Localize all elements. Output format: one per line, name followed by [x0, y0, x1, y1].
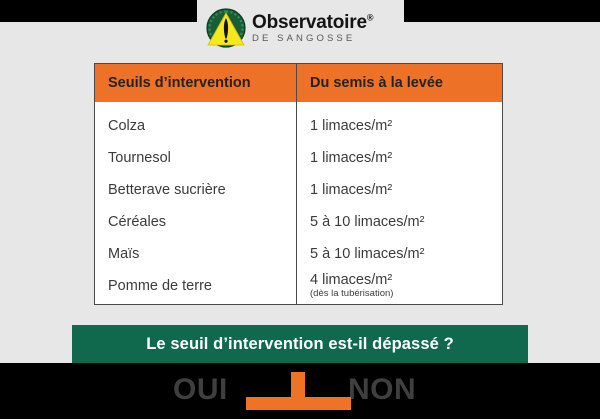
- table-row: 1 limaces/m²: [297, 110, 502, 142]
- brand-name: Observatoire®: [252, 13, 373, 32]
- crop-name: Céréales: [108, 214, 296, 230]
- table-row: 5 à 10 limaces/m²: [297, 206, 502, 238]
- threshold-value: 1 limaces/m²: [310, 182, 502, 198]
- threshold-note: (dès la tubérisation): [310, 289, 502, 299]
- table-row: Tournesol: [95, 142, 296, 174]
- table-row: Maïs: [95, 238, 296, 270]
- flowchart-connector-bar: [246, 397, 351, 410]
- threshold-table: Seuils d’intervention Du semis à la levé…: [94, 63, 503, 305]
- table-row: Pomme de terre: [95, 270, 296, 302]
- top-bar-black-right: [404, 0, 600, 22]
- crop-name: Colza: [108, 118, 296, 134]
- question-banner: Le seuil d’intervention est-il dépassé ?: [72, 325, 528, 363]
- table-row: 1 limaces/m²: [297, 142, 502, 174]
- slug-warning-triangle-icon: [206, 8, 246, 48]
- threshold-value: 4 limaces/m²: [310, 272, 502, 288]
- table-row: 1 limaces/m²: [297, 174, 502, 206]
- crop-name: Maïs: [108, 246, 296, 262]
- threshold-value: 5 à 10 limaces/m²: [310, 246, 502, 262]
- question-text: Le seuil d’intervention est-il dépassé ?: [146, 335, 454, 354]
- table-row: 5 à 10 limaces/m²: [297, 238, 502, 270]
- table-row: Colza: [95, 110, 296, 142]
- threshold-value: 1 limaces/m²: [310, 118, 502, 134]
- threshold-value: 5 à 10 limaces/m²: [310, 214, 502, 230]
- crop-name: Tournesol: [108, 150, 296, 166]
- brand-tagline: DE SANGOSSE: [252, 34, 373, 44]
- decision-yes-label: OUI: [173, 375, 228, 405]
- table-row: 4 limaces/m² (dès la tubérisation): [297, 270, 502, 302]
- table-row: Betterave sucrière: [95, 174, 296, 206]
- column-header-threshold: Du semis à la levée: [297, 64, 502, 102]
- table-column-threshold: 1 limaces/m² 1 limaces/m² 1 limaces/m² 5…: [297, 102, 502, 304]
- registered-mark-icon: ®: [367, 12, 373, 22]
- brand-logo: Observatoire® DE SANGOSSE: [197, 0, 404, 56]
- threshold-value: 1 limaces/m²: [310, 150, 502, 166]
- table-header-row: Seuils d’intervention Du semis à la levé…: [95, 64, 502, 102]
- crop-name: Betterave sucrière: [108, 182, 296, 198]
- crop-name: Pomme de terre: [108, 278, 296, 294]
- table-body: Colza Tournesol Betterave sucrière Céréa…: [95, 102, 502, 304]
- decision-no-label: NON: [348, 375, 416, 405]
- table-column-crop: Colza Tournesol Betterave sucrière Céréa…: [95, 102, 297, 304]
- column-header-crop: Seuils d’intervention: [95, 64, 297, 102]
- table-row: Céréales: [95, 206, 296, 238]
- top-bar-black-left: [0, 0, 197, 22]
